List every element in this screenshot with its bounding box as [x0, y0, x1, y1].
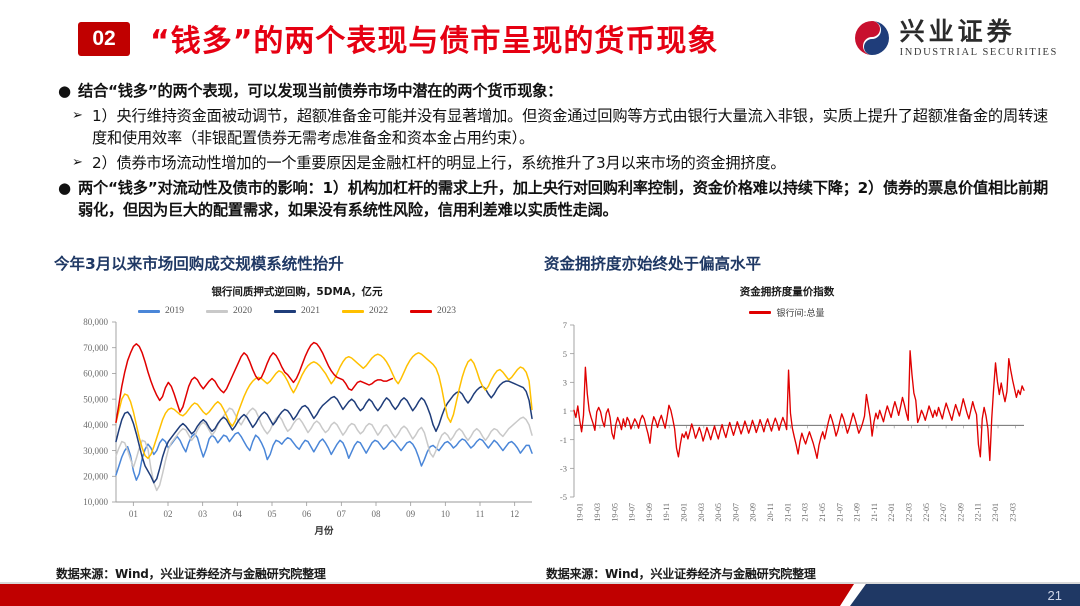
x-axis-tick-label: 19-09	[645, 503, 654, 522]
x-axis-tick-label: 02	[164, 509, 173, 519]
legend-item: 2020	[206, 306, 252, 316]
x-axis-tick-label: 09	[406, 509, 416, 519]
repo-volume-chart: 银行间质押式逆回购，5DMA，亿元 20192020202120222023 1…	[54, 278, 540, 556]
x-axis-tick-label: 05	[268, 509, 278, 519]
x-axis-tick-label: 10	[441, 509, 451, 519]
bullet-marker: ➢	[72, 152, 92, 174]
legend-label: 2019	[165, 306, 184, 316]
x-axis-tick-label: 21-11	[870, 503, 879, 521]
x-axis-tick-label: 07	[337, 509, 347, 519]
legend-item: 2019	[138, 306, 184, 316]
x-axis-tick-label: 23-03	[1008, 503, 1017, 522]
chart-panel-left: 今年3月以来市场回购成交规模系统性抬升 银行间质押式逆回购，5DMA，亿元 20…	[54, 252, 540, 582]
x-axis-tick-label: 01	[129, 509, 138, 519]
x-axis-tick-label: 21-09	[853, 503, 862, 522]
x-axis-tick-label: 21-07	[835, 503, 844, 522]
chart-title-right: 资金拥挤度量价指数	[544, 278, 1030, 299]
chart-legend-left: 20192020202120222023	[54, 306, 540, 316]
legend-swatch	[410, 310, 432, 313]
x-axis-tick-label: 22-05	[922, 503, 931, 522]
x-axis-tick-label: 22-01	[887, 503, 896, 522]
legend-item: 2021	[274, 306, 320, 316]
series-line-2021	[116, 381, 532, 483]
x-axis-tick-label: 22-09	[956, 503, 965, 522]
bullet-list: ● 结合“钱多”的两个表现，可以发现当前债券市场中潜在的两个货币现象： ➢ 1）…	[58, 80, 1048, 224]
bullet-item: ➢ 2）债券市场流动性增加的一个重要原因是金融杠杆的明显上行，系统推升了3月以来…	[72, 152, 1048, 174]
x-axis-tick-label: 22-07	[939, 503, 948, 522]
legend-label: 2023	[437, 306, 456, 316]
x-axis-tick-label: 20-05	[714, 503, 723, 522]
x-axis-tick-label: 12	[510, 509, 519, 519]
bullet-text: 1）央行维持资金面被动调节，超额准备金可能并没有显著增加。但资金通过回购等方式由…	[92, 105, 1048, 149]
y-axis-tick-label: -5	[560, 492, 567, 502]
line-chart-svg-left: 10,00020,00030,00040,00050,00060,00070,0…	[54, 316, 540, 544]
logo-text-cn: 兴业证券	[900, 19, 1016, 44]
x-axis-tick-label: 20-03	[697, 503, 706, 522]
y-axis-tick-label: 7	[563, 320, 567, 330]
crowding-index-chart: 资金拥挤度量价指数 银行间:总量 -5-3-1135719-0119-0319-…	[544, 278, 1030, 556]
x-axis-tick-label: 03	[198, 509, 208, 519]
y-axis-tick-label: 40,000	[83, 420, 108, 430]
chart-title-left: 银行间质押式逆回购，5DMA，亿元	[54, 278, 540, 299]
bullet-marker: ●	[58, 177, 78, 199]
y-axis-tick-label: 5	[563, 349, 567, 359]
source-note-left: 数据来源：Wind，兴业证券经济与金融研究院整理	[56, 565, 326, 582]
x-axis-tick-label: 19-05	[610, 503, 619, 522]
x-axis-tick-label: 11	[476, 509, 485, 519]
x-axis-tick-label: 22-11	[974, 503, 983, 521]
legend-label: 2020	[233, 306, 252, 316]
series-line-2020	[116, 408, 532, 490]
series-line-2019	[116, 433, 532, 481]
logo-text-en: INDUSTRIAL SECURITIES	[900, 47, 1058, 58]
legend-label: 银行间:总量	[776, 306, 824, 319]
y-axis-tick-label: 70,000	[83, 343, 108, 353]
x-axis-tick-label: 06	[302, 509, 312, 519]
x-axis-tick-label: 22-03	[905, 503, 914, 522]
x-axis-tick-label: 08	[372, 509, 382, 519]
legend-swatch	[206, 310, 228, 313]
y-axis-tick-label: -3	[560, 464, 567, 474]
legend-swatch	[138, 310, 160, 313]
bullet-text: 两个“钱多”对流动性及债市的影响：1）机构加杠杆的需求上升，加上央行对回购利率控…	[78, 177, 1048, 221]
legend-item: 银行间:总量	[749, 306, 824, 319]
company-logo: 兴业证券 INDUSTRIAL SECURITIES	[852, 18, 1058, 58]
x-axis-tick-label: 21-03	[801, 503, 810, 522]
section-number-badge: 02	[78, 22, 130, 56]
x-axis-tick-label: 21-05	[818, 503, 827, 522]
x-axis-tick-label: 19-01	[576, 503, 585, 522]
plot-area-right: -5-3-1135719-0119-0319-0519-0719-0919-11…	[544, 319, 1030, 556]
x-axis-tick-label: 20-07	[731, 503, 740, 522]
x-axis-tick-label: 20-01	[680, 503, 689, 522]
page-title: “钱多”的两个表现与债市呈现的货币现象	[150, 16, 718, 60]
bullet-marker: ➢	[72, 105, 92, 127]
x-axis-title: 月份	[313, 525, 334, 537]
x-axis-tick-label: 04	[233, 509, 243, 519]
source-note-right: 数据来源：Wind，兴业证券经济与金融研究院整理	[546, 565, 816, 582]
y-axis-tick-label: 1	[563, 406, 567, 416]
x-axis-tick-label: 20-09	[749, 503, 758, 522]
series-line-interbank-total	[574, 351, 1024, 461]
legend-label: 2021	[301, 306, 320, 316]
y-axis-tick-label: 20,000	[83, 471, 108, 481]
y-axis-tick-label: 80,000	[83, 317, 108, 327]
bullet-text: 结合“钱多”的两个表现，可以发现当前债券市场中潜在的两个货币现象：	[78, 80, 1048, 102]
legend-item: 2022	[342, 306, 388, 316]
bullet-marker: ●	[58, 80, 78, 102]
x-axis-tick-label: 20-11	[766, 503, 775, 521]
panel-heading-left: 今年3月以来市场回购成交规模系统性抬升	[54, 252, 540, 274]
x-axis-tick-label: 23-01	[991, 503, 1000, 522]
x-axis-tick-label: 19-03	[593, 503, 602, 522]
legend-item: 2023	[410, 306, 456, 316]
panel-heading-right: 资金拥挤度亦始终处于偏高水平	[544, 252, 1030, 274]
x-axis-tick-label: 21-01	[783, 503, 792, 522]
legend-swatch	[274, 310, 296, 313]
footer-blue-bar	[850, 584, 1080, 606]
slide-footer: 21	[0, 584, 1080, 606]
bullet-item: ● 结合“钱多”的两个表现，可以发现当前债券市场中潜在的两个货币现象：	[58, 80, 1048, 102]
bullet-item: ➢ 1）央行维持资金面被动调节，超额准备金可能并没有显著增加。但资金通过回购等方…	[72, 105, 1048, 149]
legend-swatch	[342, 310, 364, 313]
logo-swirl-icon	[852, 18, 892, 58]
line-chart-svg-right: -5-3-1135719-0119-0319-0519-0719-0919-11…	[544, 319, 1030, 551]
bullet-item: ● 两个“钱多”对流动性及债市的影响：1）机构加杠杆的需求上升，加上央行对回购利…	[58, 177, 1048, 221]
page-number: 21	[1048, 584, 1062, 606]
chart-legend-right: 银行间:总量	[544, 306, 1030, 319]
y-axis-tick-label: 30,000	[83, 446, 108, 456]
y-axis-tick-label: 10,000	[83, 497, 108, 507]
bullet-text: 2）债券市场流动性增加的一个重要原因是金融杠杆的明显上行，系统推升了3月以来市场…	[92, 152, 1048, 174]
slide-header: 02 “钱多”的两个表现与债市呈现的货币现象 兴业证券 INDUSTRIAL S…	[0, 0, 1080, 72]
y-axis-tick-label: -1	[560, 435, 567, 445]
legend-swatch	[749, 311, 771, 314]
chart-panel-right: 资金拥挤度亦始终处于偏高水平 资金拥挤度量价指数 银行间:总量 -5-3-113…	[544, 252, 1030, 582]
y-axis-tick-label: 3	[563, 378, 567, 388]
y-axis-tick-label: 60,000	[83, 369, 108, 379]
x-axis-tick-label: 19-07	[628, 503, 637, 522]
legend-label: 2022	[369, 306, 388, 316]
x-axis-tick-label: 19-11	[662, 503, 671, 521]
plot-area-left: 10,00020,00030,00040,00050,00060,00070,0…	[54, 316, 540, 549]
y-axis-tick-label: 50,000	[83, 394, 108, 404]
